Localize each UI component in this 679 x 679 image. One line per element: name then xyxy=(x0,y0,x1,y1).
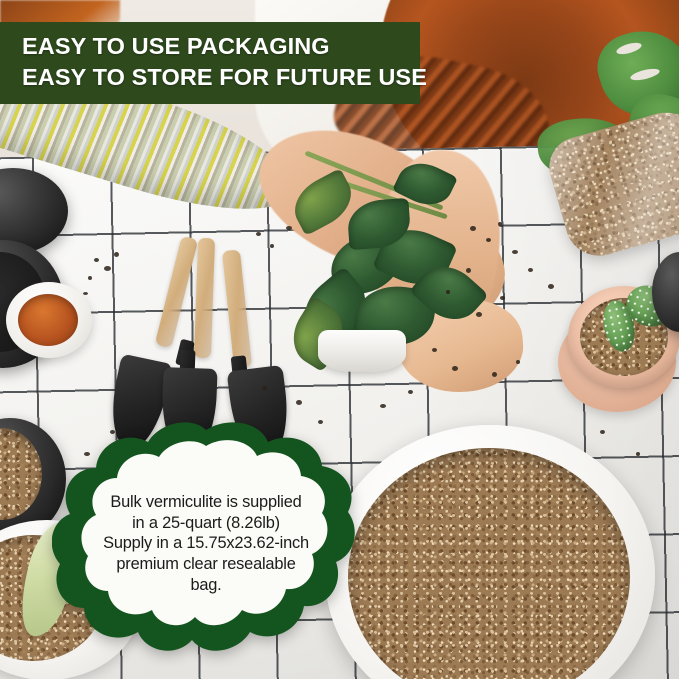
soil-speck xyxy=(466,268,471,273)
soil-speck xyxy=(83,292,88,295)
cloud-text-line-3: Supply in a 15.75x23.62-inch xyxy=(74,533,338,554)
soil-speck xyxy=(452,366,458,371)
product-infographic: EASY TO USE PACKAGING EASY TO STORE FOR … xyxy=(0,0,679,679)
cloud-callout-text: Bulk vermiculite is supplied in a 25-qua… xyxy=(74,492,338,595)
soil-speck xyxy=(256,232,261,236)
banner-headline-line-1: EASY TO USE PACKAGING xyxy=(22,31,402,62)
soil-speck xyxy=(88,276,92,280)
soil-speck xyxy=(600,430,605,434)
soil-speck xyxy=(270,244,274,248)
soil-speck xyxy=(446,290,450,294)
soil-speck xyxy=(262,386,267,390)
white-plant-pot xyxy=(318,330,406,372)
banner-headline-line-2: EASY TO STORE FOR FUTURE USE xyxy=(22,62,402,93)
soil-speck xyxy=(470,226,476,231)
cloud-callout: Bulk vermiculite is supplied in a 25-qua… xyxy=(52,420,360,658)
soil-speck xyxy=(114,252,119,257)
soil-speck xyxy=(636,452,640,456)
soil-speck xyxy=(432,348,437,352)
soil-speck xyxy=(498,222,502,226)
cloud-text-line-4: premium clear resealable xyxy=(74,554,338,575)
soil-speck xyxy=(476,312,482,317)
soil-speck xyxy=(500,296,505,300)
soil-speck xyxy=(486,238,491,242)
soil-speck xyxy=(380,404,386,408)
soil-speck xyxy=(104,266,111,271)
soil-speck xyxy=(296,400,302,405)
header-banner: EASY TO USE PACKAGING EASY TO STORE FOR … xyxy=(0,22,420,104)
red-powder-in-cup xyxy=(18,294,78,346)
soil-speck xyxy=(492,372,497,377)
soil-speck xyxy=(548,284,554,289)
soil-speck xyxy=(512,250,518,254)
cloud-text-line-2: in a 25-quart (8.26lb) xyxy=(74,513,338,534)
soil-speck xyxy=(528,268,533,272)
soil-speck xyxy=(408,390,413,394)
soil-speck xyxy=(516,360,520,364)
soil-speck xyxy=(94,258,99,262)
cloud-text-line-5: bag. xyxy=(74,575,338,596)
soil-speck xyxy=(286,226,292,230)
cloud-text-line-1: Bulk vermiculite is supplied xyxy=(74,492,338,513)
